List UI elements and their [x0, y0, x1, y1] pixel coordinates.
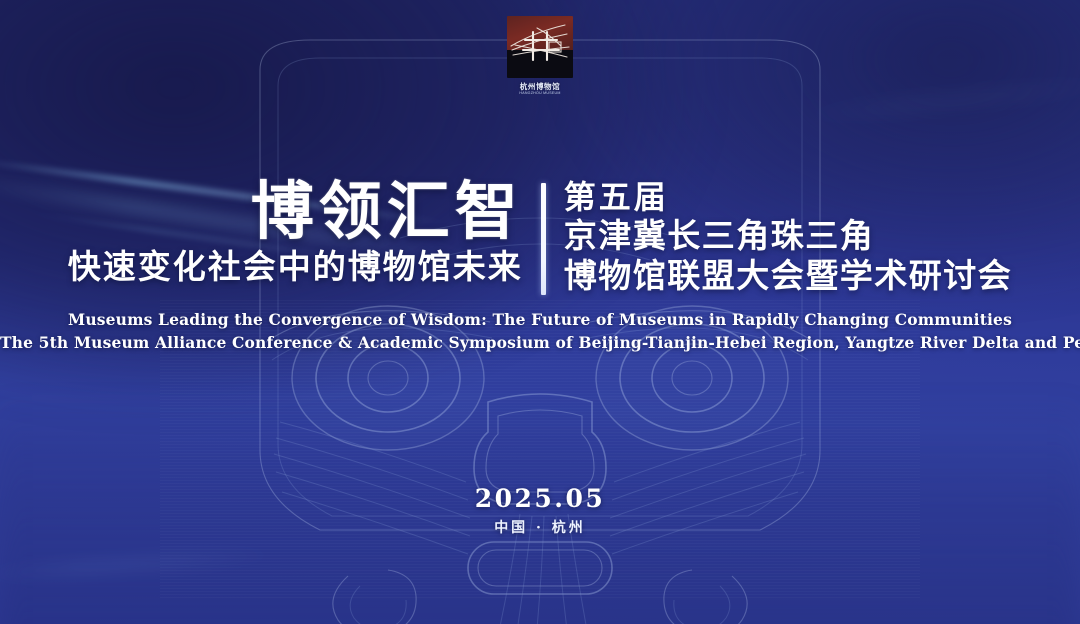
headline-left-column: 博领汇智 快速变化社会中的博物馆未来 — [68, 178, 541, 288]
museum-name-en: HANGZHOU MUSEUM — [507, 91, 573, 96]
event-label: 博物馆联盟大会暨学术研讨会 — [564, 256, 1013, 296]
event-place: 中国 · 杭州 — [0, 517, 1080, 539]
edition-label: 第五届 — [564, 178, 1013, 216]
museum-logo: 杭州博物馆 HANGZHOU MUSEUM — [507, 16, 573, 96]
conference-poster: 杭州博物馆 HANGZHOU MUSEUM 博领汇智 快速变化社会中的博物馆未来… — [0, 0, 1080, 624]
museum-name-cn: 杭州博物馆 — [507, 82, 573, 91]
region-label: 京津冀长三角珠三角 — [564, 216, 1013, 256]
footer-block: 2025.05 中国 · 杭州 — [0, 484, 1080, 539]
english-title-line-1: Museums Leading the Convergence of Wisdo… — [0, 310, 1080, 329]
headline-right-column: 第五届 京津冀长三角珠三角 博物馆联盟大会暨学术研讨会 — [546, 178, 1013, 296]
main-subtitle: 快速变化社会中的博物馆未来 — [68, 246, 523, 288]
headline-block: 博领汇智 快速变化社会中的博物馆未来 第五届 京津冀长三角珠三角 博物馆联盟大会… — [0, 178, 1080, 296]
main-title: 博领汇智 — [68, 178, 523, 244]
english-title-line-2: The 5th Museum Alliance Conference & Aca… — [0, 333, 1080, 352]
museum-building-logo-icon — [507, 16, 573, 78]
event-date: 2025.05 — [0, 484, 1080, 514]
